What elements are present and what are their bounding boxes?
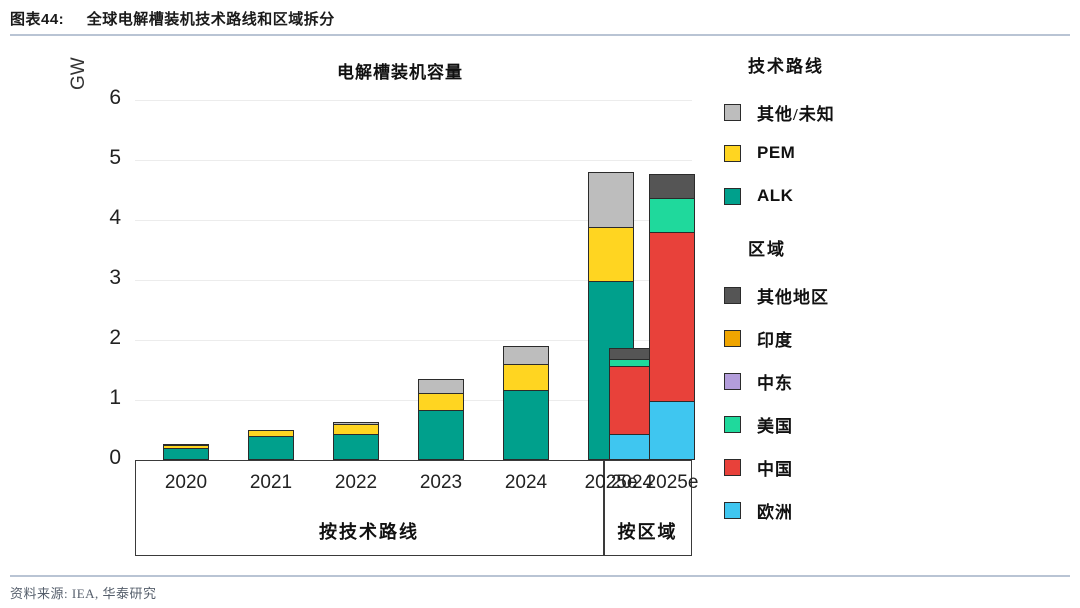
bar-segment-ALK [248,436,294,460]
legend-swatch-icon [724,502,741,519]
legend-item-中国[interactable]: 中国 [724,455,793,480]
legend-label: 欧洲 [757,498,793,523]
chart: 电解槽装机容量 GW 0123456 202020212022202320242… [0,40,1080,565]
legend-item-欧洲[interactable]: 欧洲 [724,498,793,523]
legend-swatch-icon [724,188,741,205]
bar-2024 [503,346,549,460]
bar-segment-其他/未知 [588,172,634,228]
bar-segment-ALK [333,434,379,460]
bar-2022 [333,422,379,460]
legend-label: 中东 [757,369,793,394]
legend-item-中东[interactable]: 中东 [724,369,793,394]
chart-legend: 技术路线其他/未知PEMALK区域其他地区印度中东美国中国欧洲 [700,40,1060,565]
bar-segment-ALK [503,390,549,460]
category-label: 2021 [231,472,311,494]
bar-segment-欧洲 [649,401,695,460]
gridline [135,160,692,161]
legend-swatch-icon [724,287,741,304]
legend-label: 其他/未知 [757,100,835,125]
y-axis-tick-label: 4 [81,206,121,230]
bar-2023 [418,379,464,460]
legend-item-印度[interactable]: 印度 [724,326,793,351]
bar-2025e [649,174,695,460]
bar-2021 [248,430,294,460]
bar-segment-PEM [503,364,549,392]
legend-swatch-icon [724,145,741,162]
legend-label: PEM [757,143,795,163]
legend-group-title: 技术路线 [748,52,824,77]
legend-swatch-icon [724,373,741,390]
category-label: 2020 [146,472,226,494]
gridline [135,100,692,101]
bar-segment-ALK [418,410,464,460]
category-label: 2023 [401,472,481,494]
legend-item-ALK[interactable]: ALK [724,186,793,206]
figure-page: 图表44: 全球电解槽装机技术路线和区域拆分 电解槽装机容量 GW 012345… [0,0,1080,608]
bar-segment-其他/未知 [503,346,549,365]
legend-swatch-icon [724,416,741,433]
figure-number: 图表44: [10,11,64,28]
bar-segment-其他地区 [649,174,695,200]
legend-item-美国[interactable]: 美国 [724,412,793,437]
figure-header: 图表44: 全球电解槽装机技术路线和区域拆分 [10,8,1070,29]
y-axis-tick-label: 3 [81,266,121,290]
group-label: 按技术路线 [135,518,603,544]
plot-area: 0123456 [135,100,692,460]
legend-item-其他地区[interactable]: 其他地区 [724,283,829,308]
chart-title: 电解槽装机容量 [240,58,560,83]
legend-group-title: 区域 [748,235,786,260]
bar-segment-PEM [588,227,634,282]
category-label: 2022 [316,472,396,494]
y-axis-tick-label: 6 [81,86,121,110]
y-axis-tick-label: 5 [81,146,121,170]
bar-segment-美国 [649,198,695,234]
legend-swatch-icon [724,330,741,347]
header-divider [10,34,1070,36]
y-axis-tick-label: 2 [81,326,121,350]
bar-segment-ALK [163,448,209,460]
bar-segment-中国 [649,232,695,402]
bar-2020 [163,444,209,460]
y-axis-tick-label: 0 [81,446,121,470]
legend-item-其他/未知[interactable]: 其他/未知 [724,100,835,125]
source-note: 资料来源: IEA, 华泰研究 [10,583,157,602]
y-axis-tick-label: 1 [81,386,121,410]
figure-title: 全球电解槽装机技术路线和区域拆分 [87,12,335,28]
footer-divider [10,575,1070,577]
legend-label: 中国 [757,455,793,480]
legend-swatch-icon [724,459,741,476]
legend-label: ALK [757,186,793,206]
category-label: 2024 [486,472,566,494]
group-label: 按区域 [603,518,692,544]
legend-swatch-icon [724,104,741,121]
legend-label: 其他地区 [757,283,829,308]
legend-item-PEM[interactable]: PEM [724,143,795,163]
legend-label: 美国 [757,412,793,437]
legend-label: 印度 [757,326,793,351]
bar-segment-PEM [418,393,464,412]
